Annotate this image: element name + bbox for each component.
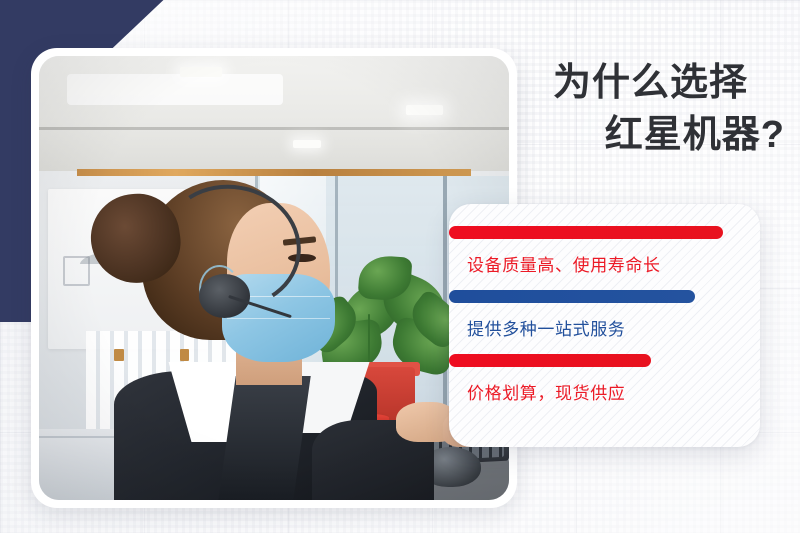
- feature-label-1: 设备质量高、使用寿命长: [449, 239, 760, 276]
- feature-highlight-card: 设备质量高、使用寿命长 提供多种一站式服务 价格划算，现货供应: [449, 204, 760, 447]
- banner-root: 为什么选择 红星机器? 设备质量高、使用寿命长 提供多种一站式服务 价格划算，现…: [0, 0, 800, 533]
- customer-service-photo: [39, 56, 509, 500]
- banner-heading: 为什么选择 红星机器?: [553, 58, 789, 161]
- feature-bar-3: [449, 354, 651, 367]
- feature-label-3: 价格划算，现货供应: [449, 367, 760, 404]
- heading-line-2: 红星机器?: [553, 110, 789, 162]
- feature-bar-2: [449, 290, 695, 303]
- heading-line-1: 为什么选择: [553, 62, 748, 104]
- feature-item-3: 价格划算，现货供应: [449, 354, 760, 404]
- feature-item-1: 设备质量高、使用寿命长: [449, 226, 760, 276]
- feature-item-2: 提供多种一站式服务: [449, 290, 760, 340]
- photo-vignette: [39, 56, 509, 500]
- photo-card-frame: [31, 48, 517, 508]
- feature-bar-1: [449, 226, 723, 239]
- feature-label-2: 提供多种一站式服务: [449, 303, 760, 340]
- feature-list: 设备质量高、使用寿命长 提供多种一站式服务 价格划算，现货供应: [449, 226, 760, 404]
